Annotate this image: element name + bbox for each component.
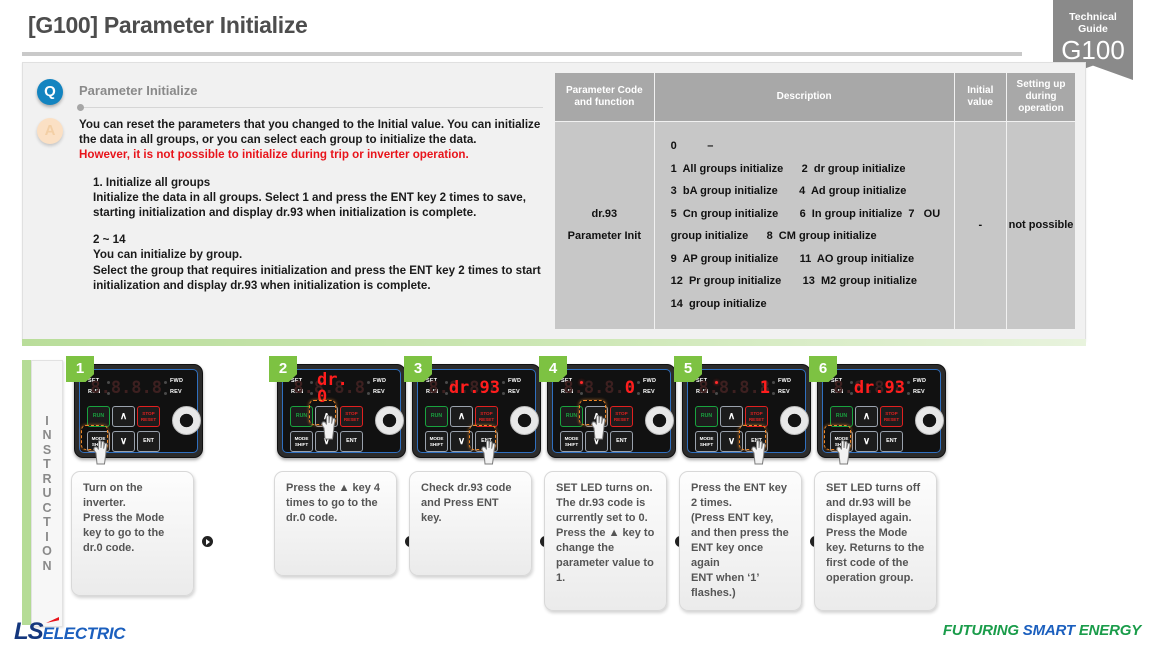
logo-ls-text: LS xyxy=(14,618,43,645)
mode-shift-key[interactable]: MODESHIFT xyxy=(695,431,718,452)
display-value xyxy=(114,376,162,401)
display-value: dr. 0 xyxy=(317,376,365,401)
step-caption: Check dr.93 code and Press ENT key. xyxy=(409,471,532,576)
step-arrow-icon xyxy=(202,536,213,547)
instruction-label-char: U xyxy=(42,486,51,501)
keypad-display: SETRUNFWDREV8.8.8.8dr. 0 xyxy=(289,375,401,402)
ent-key[interactable]: ENT xyxy=(610,431,633,452)
down-arrow-key[interactable]: ∨ xyxy=(855,431,878,452)
step-number-badge: 5 xyxy=(674,356,702,382)
fwd-led-indicator xyxy=(772,381,775,384)
fwd-led-label: FWD xyxy=(778,378,791,384)
step-number-badge: 4 xyxy=(539,356,567,382)
fwd-led-label: FWD xyxy=(643,378,656,384)
step-caption: Turn on the inverter. Press the Mode key… xyxy=(71,471,194,596)
jog-dial[interactable] xyxy=(780,406,809,435)
description-line: 0 – xyxy=(671,135,954,158)
up-arrow-key[interactable]: ∧ xyxy=(450,406,473,427)
jog-dial[interactable] xyxy=(510,406,539,435)
question-divider xyxy=(79,107,543,108)
pointing-hand-icon xyxy=(589,414,609,440)
fwd-led-label: FWD xyxy=(170,378,183,384)
stop-reset-key[interactable]: STOPRESET xyxy=(610,406,633,427)
ent-key[interactable]: ENT xyxy=(340,431,363,452)
instruction-label-char: T xyxy=(43,515,51,530)
cell-initial-value: - xyxy=(954,121,1006,329)
inverter-keypad: SETRUNFWDREV8.8.8.80RUN∧STOPRESETMODESHI… xyxy=(547,364,676,458)
step-number-badge: 2 xyxy=(269,356,297,382)
fwd-led-label: FWD xyxy=(373,378,386,384)
cell-description: 0 –1 All groups initialize 2 dr group in… xyxy=(654,121,954,329)
jog-dial[interactable] xyxy=(172,406,201,435)
title-divider xyxy=(22,52,1022,56)
display-value-text: 1 xyxy=(760,380,770,397)
display-value: 1 xyxy=(722,376,770,401)
ent-key[interactable]: ENT xyxy=(880,431,903,452)
run-key[interactable]: RUN xyxy=(695,406,718,427)
inverter-keypad: SETRUNFWDREV8.8.8.8dr. 0RUN∧STOPRESETMOD… xyxy=(277,364,406,458)
pointing-hand-icon xyxy=(479,439,499,465)
slogan-uturing: UTURING xyxy=(952,622,1023,639)
inverter-keypad: SETRUNFWDREV8.8.8.8dr.93RUN∧STOPRESETMOD… xyxy=(412,364,541,458)
fwd-led-indicator xyxy=(164,381,167,384)
fwd-led-indicator xyxy=(502,381,505,384)
run-key[interactable]: RUN xyxy=(560,406,583,427)
pointing-hand-icon xyxy=(749,439,769,465)
answer-text: You can reset the parameters that you ch… xyxy=(79,117,547,293)
instruction-label-char: N xyxy=(42,428,51,443)
table-header-row: Parameter Code and function Description … xyxy=(555,73,1076,122)
panel-green-accent-bar xyxy=(22,339,1086,346)
step-caption: SET LED turns off and dr.93 will be disp… xyxy=(814,471,937,611)
question-text: Parameter Initialize xyxy=(79,83,198,98)
display-value-text: 0 xyxy=(625,380,635,397)
run-key[interactable]: RUN xyxy=(87,406,110,427)
instruction-label-char: T xyxy=(43,457,51,472)
run-key[interactable]: RUN xyxy=(425,406,448,427)
rev-led-label: REV xyxy=(643,389,655,395)
pointing-hand-icon xyxy=(834,439,854,465)
parameter-code-name: Parameter Init xyxy=(556,225,653,247)
step-caption: SET LED turns on. The dr.93 code is curr… xyxy=(544,471,667,611)
display-value: 0 xyxy=(587,376,635,401)
rev-led-indicator xyxy=(164,392,167,395)
up-arrow-key[interactable]: ∧ xyxy=(112,406,135,427)
pointing-hand-icon xyxy=(319,414,339,440)
answer-warning: However, it is not possible to initializ… xyxy=(79,147,547,162)
rev-led-indicator xyxy=(772,392,775,395)
answer-section1-title: 1. Initialize all groups xyxy=(79,175,547,190)
display-value: dr.93 xyxy=(857,376,905,401)
fwd-led-indicator xyxy=(907,381,910,384)
stop-reset-key[interactable]: STOPRESET xyxy=(340,406,363,427)
instruction-label-char: R xyxy=(42,472,51,487)
page-title: [G100] Parameter Initialize xyxy=(28,12,308,39)
description-line: 12 Pr group initialize 13 M2 group initi… xyxy=(671,270,954,293)
step-number-badge: 6 xyxy=(809,356,837,382)
logo-electric-text: ELECTRIC xyxy=(43,624,126,643)
slogan-nergy: NERGY xyxy=(1089,622,1141,639)
answer-section2-title: 2 ~ 14 xyxy=(79,232,547,247)
run-key[interactable]: RUN xyxy=(290,406,313,427)
jog-dial[interactable] xyxy=(645,406,674,435)
rev-led-label: REV xyxy=(778,389,790,395)
answer-section2-body: You can initialize by group. Select the … xyxy=(79,247,547,293)
header-initial-value: Initial value xyxy=(954,73,1006,122)
fwd-led-indicator xyxy=(637,381,640,384)
keypad-display: SETRUNFWDREV8.8.8.81 xyxy=(694,375,806,402)
keypad-display: SETRUNFWDREV8.8.8.8dr.93 xyxy=(829,375,941,402)
mode-shift-key[interactable]: MODESHIFT xyxy=(290,431,313,452)
parameter-code-id: dr.93 xyxy=(556,203,653,225)
badge-line-2: Guide xyxy=(1078,23,1108,35)
header-parameter-code: Parameter Code and function xyxy=(555,73,655,122)
keypad-display: SETRUNFWDREV8.8.8.8dr.93 xyxy=(424,375,536,402)
step-caption: Press the ENT key 2 times. (Press ENT ke… xyxy=(679,471,802,611)
up-arrow-key[interactable]: ∧ xyxy=(855,406,878,427)
stop-reset-key[interactable]: STOPRESET xyxy=(745,406,768,427)
description-line: group initialize 8 CM group initialize xyxy=(671,225,954,248)
slogan-e: E xyxy=(1079,622,1089,639)
step-caption: Press the ▲ key 4 times to go to the dr.… xyxy=(274,471,397,576)
fwd-led-label: FWD xyxy=(508,378,521,384)
slogan: FUTURING SMART ENERGY xyxy=(943,622,1141,639)
inverter-keypad: SETRUNFWDREV8.8.8.8dr.93RUN∧STOPRESETMOD… xyxy=(817,364,946,458)
rev-led-label: REV xyxy=(913,389,925,395)
display-value-text: dr.93 xyxy=(854,380,905,397)
up-arrow-key[interactable]: ∧ xyxy=(720,406,743,427)
description-line: 9 AP group initialize 11 AO group initia… xyxy=(671,248,954,271)
answer-marker-icon: A xyxy=(37,118,63,144)
inverter-keypad: SETRUNFWDREV8.8.8.8RUN∧STOPRESETMODESHIF… xyxy=(74,364,203,458)
table-row: dr.93 Parameter Init 0 –1 All groups ini… xyxy=(555,121,1076,329)
keypad-inner-frame: SETRUNFWDREV8.8.8.80RUN∧STOPRESETMODESHI… xyxy=(552,369,671,453)
cell-setting-during-operation: not possible xyxy=(1007,121,1076,329)
rev-led-indicator xyxy=(907,392,910,395)
answer-section1-body: Initialize the data in all groups. Selec… xyxy=(79,190,547,220)
instruction-green-bar xyxy=(22,360,31,625)
instruction-label-char: I xyxy=(45,530,48,545)
display-value: dr.93 xyxy=(452,376,500,401)
instruction-label-char: N xyxy=(42,559,51,574)
rev-led-indicator xyxy=(502,392,505,395)
ent-key[interactable]: ENT xyxy=(137,431,160,452)
display-value-text: dr. 0 xyxy=(317,372,365,406)
rev-led-label: REV xyxy=(170,389,182,395)
parameter-table: Parameter Code and function Description … xyxy=(554,72,1076,330)
rev-led-label: REV xyxy=(373,389,385,395)
question-divider-dot-icon xyxy=(77,104,84,111)
instruction-steps: 1SETRUNFWDREV8.8.8.8RUN∧STOPRESETMODESHI… xyxy=(66,356,1076,628)
instruction-label-char: I xyxy=(45,414,48,429)
instruction-label-char: C xyxy=(42,501,51,516)
run-key[interactable]: RUN xyxy=(830,406,853,427)
rev-led-indicator xyxy=(367,392,370,395)
cell-parameter-code: dr.93 Parameter Init xyxy=(555,121,655,329)
question-marker-icon: Q xyxy=(37,79,63,105)
fwd-led-label: FWD xyxy=(913,378,926,384)
fwd-led-indicator xyxy=(367,381,370,384)
qa-section: Q Parameter Initialize A You can reset t… xyxy=(23,63,553,340)
instruction-label-char: S xyxy=(43,443,51,458)
keypad-inner-frame: SETRUNFWDREV8.8.8.8dr. 0RUN∧STOPRESETMOD… xyxy=(282,369,401,453)
down-arrow-key[interactable]: ∨ xyxy=(112,431,135,452)
mode-shift-key[interactable]: MODESHIFT xyxy=(425,431,448,452)
stop-reset-key[interactable]: STOPRESET xyxy=(880,406,903,427)
description-line: 14 group initialize xyxy=(671,293,954,316)
keypad-display: SETRUNFWDREV8.8.8.80 xyxy=(559,375,671,402)
keypad-inner-frame: SETRUNFWDREV8.8.8.81RUN∧STOPRESETMODESHI… xyxy=(687,369,806,453)
keypad-inner-frame: SETRUNFWDREV8.8.8.8dr.93RUN∧STOPRESETMOD… xyxy=(417,369,536,453)
ls-electric-logo: LSELECTRIC xyxy=(14,618,125,646)
slogan-s: S xyxy=(1023,622,1033,639)
badge-model: G100 xyxy=(1053,37,1133,63)
instruction-label: INSTRUCTION xyxy=(31,360,63,627)
down-arrow-key[interactable]: ∨ xyxy=(450,431,473,452)
header-setting-during-operation: Setting up during operation xyxy=(1007,73,1076,122)
slogan-mart: MART xyxy=(1033,622,1079,639)
mode-shift-key[interactable]: MODESHIFT xyxy=(560,431,583,452)
description-line: 3 bA group initialize 4 Ad group initial… xyxy=(671,180,954,203)
description-line: 5 Cn group initialize 6 In group initial… xyxy=(671,203,954,226)
header-description: Description xyxy=(654,73,954,122)
display-value-text: dr.93 xyxy=(449,380,500,397)
jog-dial[interactable] xyxy=(375,406,404,435)
keypad-display: SETRUNFWDREV8.8.8.8 xyxy=(86,375,198,402)
badge-line-1: Technical xyxy=(1069,11,1117,23)
rev-led-indicator xyxy=(637,392,640,395)
inverter-keypad: SETRUNFWDREV8.8.8.81RUN∧STOPRESETMODESHI… xyxy=(682,364,811,458)
instruction-label-char: O xyxy=(42,544,52,559)
answer-intro: You can reset the parameters that you ch… xyxy=(79,118,540,146)
rev-led-label: REV xyxy=(508,389,520,395)
down-arrow-key[interactable]: ∨ xyxy=(720,431,743,452)
pointing-hand-icon xyxy=(91,439,111,465)
jog-dial[interactable] xyxy=(915,406,944,435)
stop-reset-key[interactable]: STOPRESET xyxy=(475,406,498,427)
description-line: 1 All groups initialize 2 dr group initi… xyxy=(671,158,954,181)
step-number-badge: 3 xyxy=(404,356,432,382)
stop-reset-key[interactable]: STOPRESET xyxy=(137,406,160,427)
logo-accent-icon xyxy=(46,617,59,623)
slogan-f: F xyxy=(943,622,952,639)
qa-table-panel: Q Parameter Initialize A You can reset t… xyxy=(22,62,1086,341)
